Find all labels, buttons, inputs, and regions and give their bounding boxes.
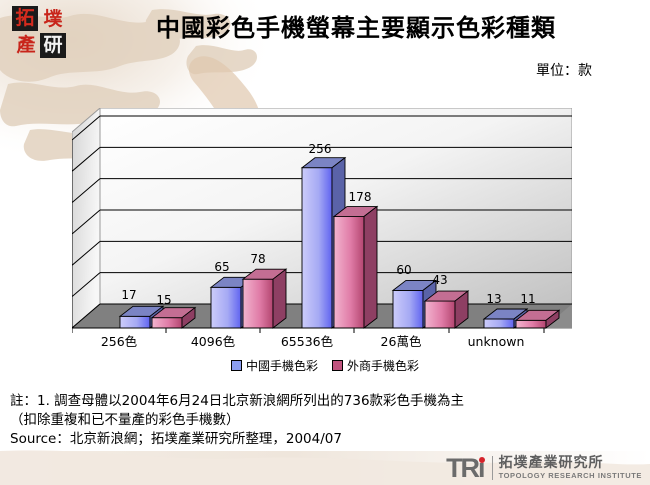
slide-title: 中國彩色手機螢幕主要顯示色彩種類 [96,8,616,43]
legend-swatch-china [231,360,242,371]
bar-label-foreign-4: 43 [432,273,447,287]
footnote-line-3: Source：北京新浪網；拓墣產業研究所整理，2004/07 [10,430,570,449]
legend-item-foreign[interactable]: 外商手機色彩 [332,357,419,374]
footnote-line-2: （扣除重複和已不量產的彩色手機數） [10,411,570,430]
logo-char-4: 研 [40,33,66,58]
bar-label-china-3: 256 [309,142,332,156]
bar-label-foreign-2: 78 [250,252,265,266]
chart-legend: 中國手機色彩 外商手機色彩 [0,352,650,374]
legend-label-china: 中國手機色彩 [246,357,318,374]
tri-name-en: TOPOLOGY RESEARCH INSTITUTE [499,472,642,480]
x-tick-1: 256色 [101,334,138,349]
bar-label-foreign-3: 178 [349,190,372,204]
logo-char-2: 墣 [40,7,66,32]
tri-wordmark-text: TRi [446,453,484,483]
tri-accent-dot-icon [479,457,485,463]
footnote-line-1: 註：1. 調查母體以2004年6月24日北京新浪網所列出的736款彩色手機為主 [10,392,570,411]
bar-label-china-1: 17 [121,288,136,302]
bar-foreign-4 [425,291,468,328]
tri-footer-logo: TRi 拓墣產業研究所 TOPOLOGY RESEARCH INSTITUTE [446,453,642,483]
bar-chart: 17 15 65 78 [72,108,572,358]
tri-divider [492,456,493,480]
bar-foreign-3 [334,207,377,328]
x-tick-3: 65536色 [281,334,334,349]
logo-char-1: 拓 [12,6,38,31]
bar-label-china-4: 60 [396,263,411,277]
bar-label-foreign-5: 11 [520,292,535,306]
bar-label-foreign-1: 15 [156,293,171,307]
legend-item-china[interactable]: 中國手機色彩 [231,357,318,374]
unit-label: 單位：款 [536,60,592,80]
footnote-block: 註：1. 調查母體以2004年6月24日北京新浪網所列出的736款彩色手機為主 … [10,392,570,449]
x-tick-5: unknown [468,334,525,349]
logo-char-3: 產 [13,33,39,58]
legend-label-foreign: 外商手機色彩 [347,357,419,374]
x-tick-2: 4096色 [191,334,236,349]
chart-x-axis-labels: 256色 4096色 65536色 26萬色 unknown [101,334,525,349]
bar-label-china-2: 65 [214,260,229,274]
x-tick-4: 26萬色 [381,334,422,349]
tri-name-block: 拓墣產業研究所 TOPOLOGY RESEARCH INSTITUTE [499,456,642,480]
tri-corner-logo: 拓 墣 產 研 [12,6,68,60]
bar-label-china-5: 13 [486,292,501,306]
legend-swatch-foreign [332,360,343,371]
chart-x-axis [72,328,544,333]
bar-foreign-2 [243,269,286,328]
tri-name-cn: 拓墣產業研究所 [499,456,642,470]
tri-wordmark: TRi [446,455,484,482]
